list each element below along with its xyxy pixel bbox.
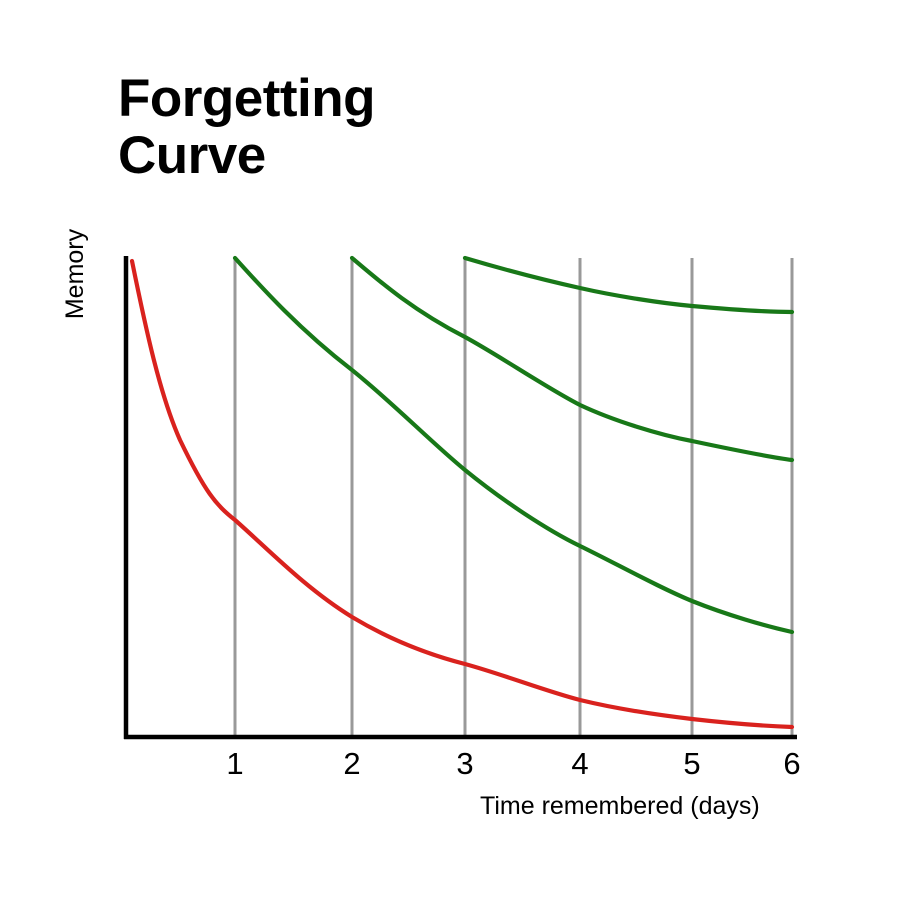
- gridlines: [235, 258, 792, 737]
- x-axis-title: Time remembered (days): [480, 792, 760, 821]
- y-axis-title: Memory: [61, 194, 93, 354]
- series-line-review-day-3: [465, 258, 792, 312]
- x-tick-label-5: 5: [662, 748, 722, 779]
- forgetting-curve-figure: Forgetting Curve 1 2 3 4 5 6 Time rememb…: [0, 0, 900, 900]
- x-tick-label-4: 4: [550, 748, 610, 779]
- x-tick-label-1: 1: [205, 748, 265, 779]
- axes-lines: [124, 256, 797, 739]
- x-tick-label-6: 6: [762, 748, 822, 779]
- x-tick-label-3: 3: [435, 748, 495, 779]
- x-tick-label-2: 2: [322, 748, 382, 779]
